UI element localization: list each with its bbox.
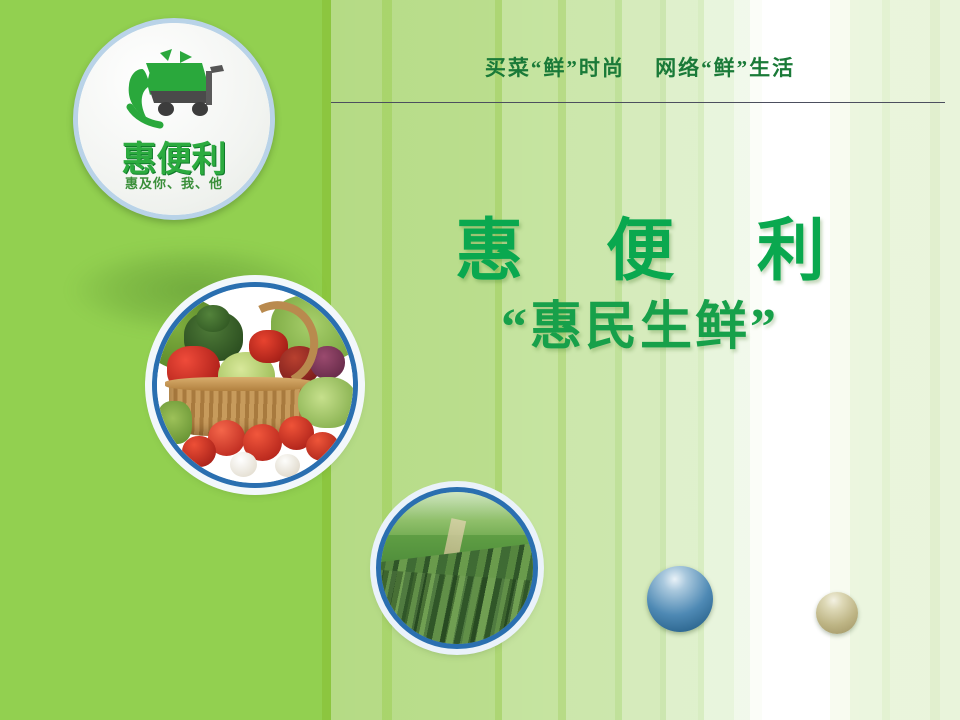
shopping-cart-arrow-icon [106,47,242,139]
header-divider-rule [331,102,945,103]
brand-logo: 惠便利 惠及你、我、他 [73,18,275,220]
basket-artwork [157,287,353,483]
page-title: 惠 便 利 [330,195,950,294]
header-tagline: 买菜“鲜”时尚 网络“鲜”生活 [330,52,950,82]
presentation-slide: 买菜“鲜”时尚 网络“鲜”生活 惠 便 利 “惠民生鲜” 惠便利 惠及你、我、他 [0,0,960,720]
logo-tagline: 惠及你、我、他 [78,173,270,192]
farm-field-image [376,487,538,649]
tan-sphere-decoration [816,592,858,634]
page-subtitle: “惠民生鲜” [330,284,950,359]
vegetable-basket-image [152,282,358,488]
field-artwork [381,492,533,644]
blue-sphere-decoration [647,566,713,632]
